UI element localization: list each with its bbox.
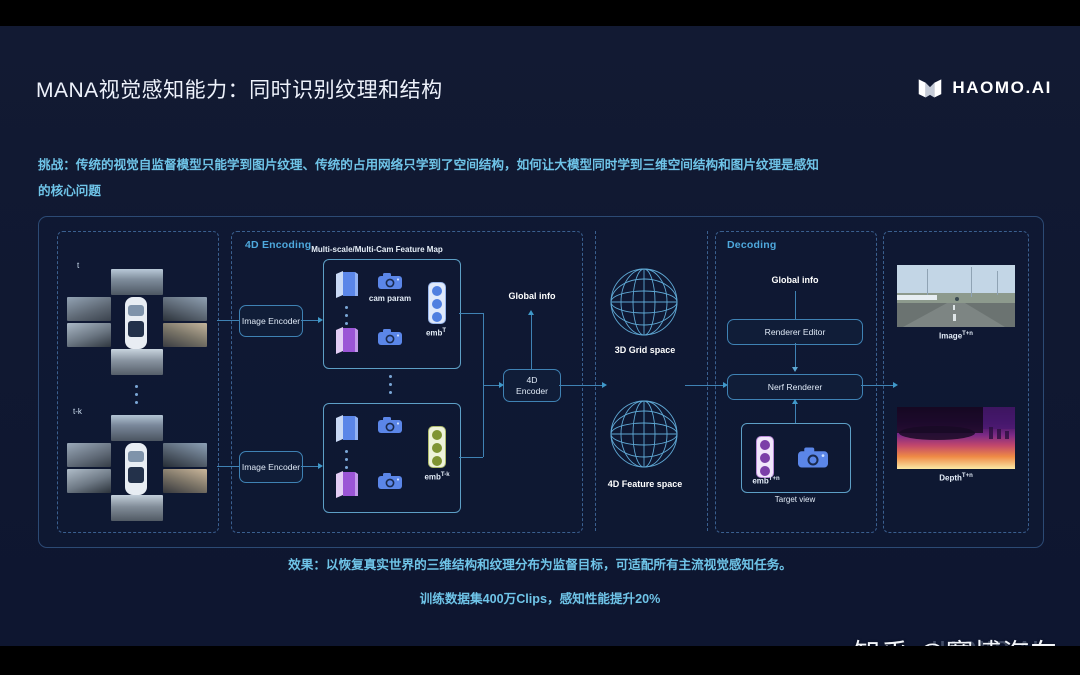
conclusion-line-2: 训练数据集400万Clips，感知性能提升20% bbox=[0, 588, 1080, 607]
feature-map-title: Multi-scale/Multi-Cam Feature Map bbox=[297, 245, 457, 254]
target-view-box: embT+n bbox=[741, 423, 851, 493]
grid-space-sphere-icon bbox=[607, 265, 681, 339]
connector-input-to-encoder-1 bbox=[217, 320, 239, 321]
target-view-label: Target view bbox=[741, 495, 849, 504]
emb-current-label: embT bbox=[420, 328, 452, 338]
connector-encoder-2-out bbox=[301, 466, 319, 467]
bottom-letterbox-bar bbox=[0, 646, 1080, 675]
global-info-label-left: Global info bbox=[491, 291, 573, 301]
slide-stage: MANA视觉感知能力：同时识别纹理和结构 HAOMO.AI 挑战：传统的视觉自监… bbox=[0, 0, 1080, 675]
arrow-editor-to-nerf bbox=[792, 367, 798, 372]
nerf-renderer-box[interactable]: Nerf Renderer bbox=[727, 374, 863, 400]
image-encoder-label: Image Encoder bbox=[242, 316, 300, 327]
output-depth-map bbox=[897, 407, 1015, 469]
camera-thumb-front-right bbox=[163, 443, 207, 467]
camera-thumb-front-left bbox=[67, 297, 111, 321]
image-encoder-box-1[interactable]: Image Encoder bbox=[239, 305, 303, 337]
camera-thumb-rear-left bbox=[67, 469, 111, 493]
output-image-rgb bbox=[897, 265, 1015, 327]
emb-target-label: embT+n bbox=[744, 476, 788, 486]
decoding-panel-title: Decoding bbox=[727, 239, 776, 251]
feature-space-label: 4D Feature space bbox=[591, 479, 699, 489]
challenge-line-1: 挑战：传统的视觉自监督模型只能学到图片纹理、传统的占用网络只学到了空间结构，如何… bbox=[38, 152, 1048, 178]
feature-map-stack-purple-icon bbox=[334, 470, 360, 500]
connector-input-to-encoder-2 bbox=[217, 466, 239, 467]
divider-right bbox=[707, 231, 708, 531]
global-info-label-right: Global info bbox=[729, 275, 861, 285]
conclusion-line-1: 效果：以恢复真实世界的三维结构和纹理分布为监督目标，可适配所有主流视觉感知任务。 bbox=[0, 554, 1080, 573]
feature-map-stack-purple-icon bbox=[334, 326, 360, 356]
surround-view-current bbox=[67, 269, 207, 377]
camera-thumb-rear-right bbox=[163, 323, 207, 347]
arrow-target-to-nerf bbox=[792, 399, 798, 404]
arrow-to-spaces bbox=[602, 382, 607, 388]
renderer-editor-box[interactable]: Renderer Editor bbox=[727, 319, 863, 345]
grid-space-label: 3D Grid space bbox=[595, 345, 695, 355]
logo-text: HAOMO.AI bbox=[952, 78, 1052, 98]
feature-map-group-past: embT-k bbox=[323, 403, 461, 513]
encoder-label-line2: Encoder bbox=[516, 386, 548, 396]
connector-global-to-editor bbox=[795, 291, 796, 319]
surround-view-past bbox=[67, 415, 207, 523]
camera-thumb-rear-right bbox=[163, 469, 207, 493]
connector-encoder-1-out bbox=[301, 320, 319, 321]
camera-icon bbox=[378, 472, 402, 490]
camera-icon bbox=[798, 446, 828, 469]
input-ellipsis-icon bbox=[135, 385, 138, 409]
page-title: MANA视觉感知能力：同时识别纹理和结构 bbox=[36, 74, 443, 104]
camera-icon bbox=[378, 416, 402, 434]
presentation-slide: MANA视觉感知能力：同时识别纹理和结构 HAOMO.AI 挑战：传统的视觉自监… bbox=[0, 26, 1080, 646]
output-depth-label: DepthT+n bbox=[897, 473, 1015, 483]
four-d-encoder-box[interactable]: 4DEncoder bbox=[503, 369, 561, 402]
cam-param-label: cam param bbox=[366, 294, 414, 303]
camera-thumb-rear bbox=[111, 349, 163, 375]
image-encoder-box-2[interactable]: Image Encoder bbox=[239, 451, 303, 483]
camera-thumb-front-right bbox=[163, 297, 207, 321]
connector-merge-top bbox=[459, 313, 483, 314]
embedding-pill-past bbox=[428, 426, 446, 468]
feature-map-stack-blue-icon bbox=[334, 270, 360, 300]
feature-map-stack-blue-icon bbox=[334, 414, 360, 444]
camera-icon bbox=[378, 272, 402, 290]
feature-group-ellipsis-icon bbox=[389, 375, 392, 399]
architecture-diagram: t t-k bbox=[38, 216, 1044, 548]
output-image-label: ImageT+n bbox=[897, 331, 1015, 341]
camera-thumb-rear-left bbox=[67, 323, 111, 347]
encoder-label-line1: 4D bbox=[526, 375, 537, 385]
embedding-pill-current bbox=[428, 282, 446, 324]
camera-thumb-front bbox=[111, 269, 163, 295]
connector-encoder-to-global bbox=[531, 315, 532, 369]
connector-merge-bottom-v bbox=[483, 385, 484, 457]
connector-merge-top-v bbox=[483, 313, 484, 385]
nerf-renderer-label: Nerf Renderer bbox=[768, 382, 822, 393]
feature-space-sphere-icon bbox=[607, 397, 681, 471]
feature-map-group-current: cam param embT bbox=[323, 259, 461, 369]
embedding-pill-target bbox=[756, 436, 774, 478]
ego-vehicle-icon bbox=[121, 295, 151, 351]
camera-thumb-rear bbox=[111, 495, 163, 521]
camera-icon bbox=[378, 328, 402, 346]
arrow-global-info bbox=[528, 310, 534, 315]
camera-thumb-front-left bbox=[67, 443, 111, 467]
top-letterbox-bar bbox=[0, 0, 1080, 26]
connector-target-to-nerf bbox=[795, 402, 796, 424]
brand-logo: HAOMO.AI bbox=[917, 76, 1052, 100]
challenge-text: 挑战：传统的视觉自监督模型只能学到图片纹理、传统的占用网络只学到了空间结构，如何… bbox=[38, 152, 1048, 204]
image-encoder-label: Image Encoder bbox=[242, 462, 300, 473]
connector-encoder-to-spaces bbox=[559, 385, 603, 386]
haomo-m-logo-icon bbox=[917, 76, 943, 100]
connector-merge-bottom bbox=[459, 457, 483, 458]
connector-editor-to-nerf bbox=[795, 343, 796, 369]
challenge-line-2: 的核心问题 bbox=[38, 178, 1048, 204]
camera-thumb-front bbox=[111, 415, 163, 441]
emb-past-label: embT-k bbox=[416, 472, 458, 482]
ego-vehicle-icon bbox=[121, 441, 151, 497]
renderer-editor-label: Renderer Editor bbox=[765, 327, 826, 338]
